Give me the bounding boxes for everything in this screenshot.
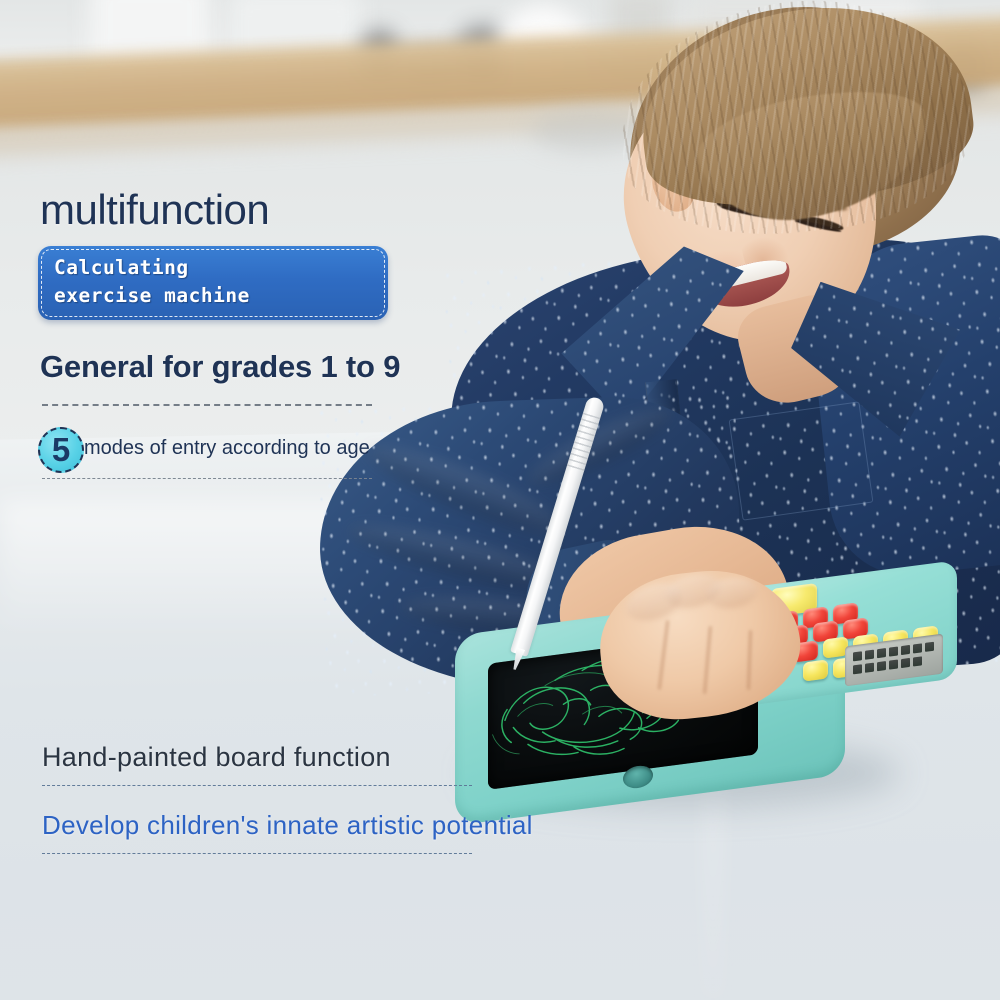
product-name-banner: Calculating exercise machine bbox=[38, 246, 388, 320]
feature-text-artistic-potential: Develop children's innate artistic poten… bbox=[42, 810, 533, 841]
divider-line bbox=[42, 478, 372, 479]
page-title: multifunction bbox=[40, 186, 269, 234]
divider-line bbox=[42, 785, 472, 786]
modes-count-value: 5 bbox=[52, 433, 70, 466]
modes-count-badge: 5 bbox=[38, 427, 84, 473]
subtitle-grades: General for grades 1 to 9 bbox=[40, 349, 400, 385]
banner-line-2: exercise machine bbox=[54, 282, 378, 310]
modes-label: modes of entry according to age bbox=[84, 437, 370, 460]
divider-line bbox=[42, 404, 372, 406]
banner-line-1: Calculating bbox=[54, 254, 378, 282]
marketing-text-overlay: multifunction Calculating exercise machi… bbox=[0, 0, 1000, 1000]
product-poster: multifunction Calculating exercise machi… bbox=[0, 0, 1000, 1000]
divider-line bbox=[42, 853, 472, 854]
feature-text-hand-painted: Hand-painted board function bbox=[42, 742, 391, 773]
